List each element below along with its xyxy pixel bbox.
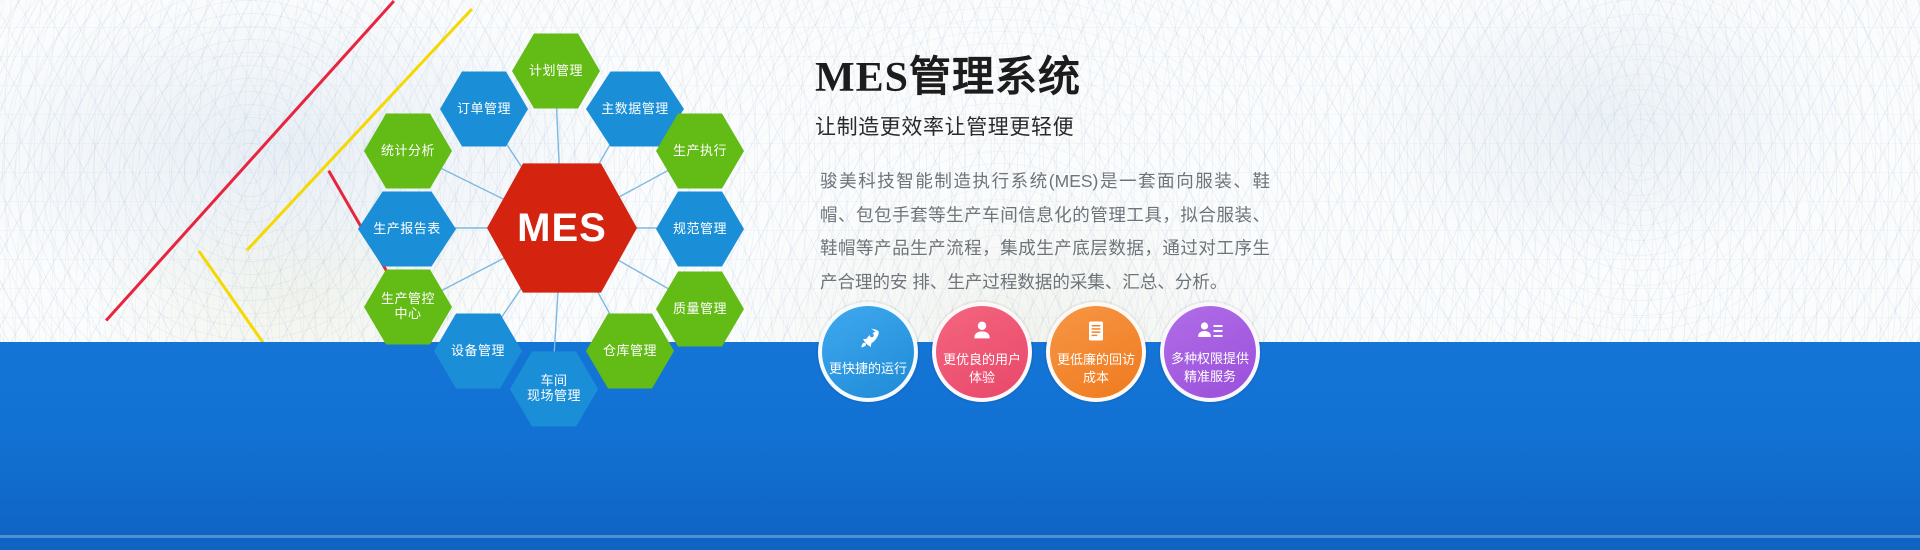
banner-text-column: MES管理系统 让制造更效率让管理更轻便 骏美科技智能制造执行系统(MES)是一… [815,55,1335,300]
hex-node-label: 计划管理 [529,64,583,79]
feature-badge-list: 更快捷的运行 更优良的用户体验 [818,302,1260,402]
badge-label: 多种权限提供精准服务 [1165,350,1255,385]
mes-hexagon-diagram: 计划管理 订单管理 主数据管理 统计分析 生产执行 生产报告表 规范管理 生产管… [330,0,790,440]
user-icon [969,318,995,349]
hex-node-label: 订单管理 [457,102,511,117]
user-list-icon [1196,319,1224,348]
hex-node-label: 设备管理 [451,344,505,359]
hex-node-label: 生产执行 [673,144,727,159]
document-icon [1084,318,1108,349]
hex-node-label: 主数据管理 [601,102,669,117]
hex-center-label: MES [517,205,607,251]
page-subtitle: 让制造更效率让管理更轻便 [815,111,1335,141]
badge-label: 更低廉的回访成本 [1051,351,1141,386]
hex-node-label: 仓库管理 [603,344,657,359]
page-title: MES管理系统 [815,55,1335,101]
hex-node-label: 生产管控中心 [381,292,435,322]
banner-description: 骏美科技智能制造执行系统(MES)是一套面向服装、鞋帽、包包手套等生产车间信息化… [815,165,1270,299]
badge-label: 更优良的用户体验 [937,351,1027,386]
feature-badge-permissions[interactable]: 多种权限提供精准服务 [1160,302,1260,402]
feature-badge-fast-run[interactable]: 更快捷的运行 [818,302,918,402]
badge-label: 更快捷的运行 [823,360,913,378]
hex-node-label: 生产报告表 [373,222,441,237]
banner-stage: 计划管理 订单管理 主数据管理 统计分析 生产执行 生产报告表 规范管理 生产管… [0,0,1920,550]
feature-badge-user-experience[interactable]: 更优良的用户体验 [932,302,1032,402]
bottom-band-base [0,538,1920,550]
hex-node-label: 质量管理 [673,302,727,317]
hex-node-label: 车间现场管理 [527,374,581,404]
hex-node-label: 规范管理 [673,222,727,237]
hex-node-label: 统计分析 [381,144,435,159]
rocket-icon [855,326,881,357]
feature-badge-low-cost[interactable]: 更低廉的回访成本 [1046,302,1146,402]
